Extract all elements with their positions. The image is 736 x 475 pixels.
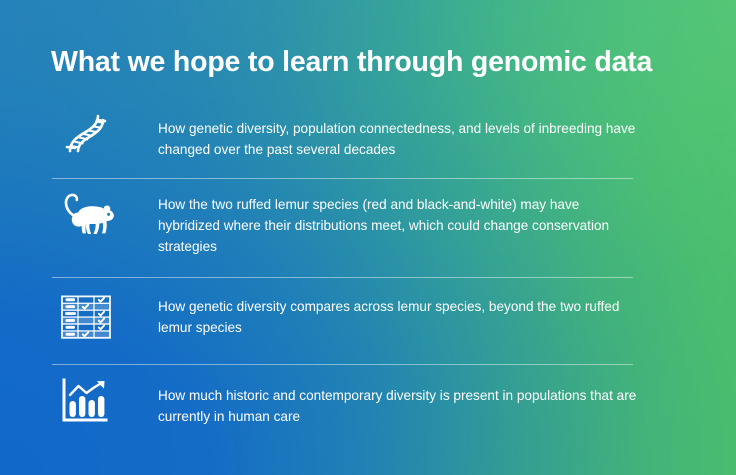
dna-helix-icon: [57, 106, 113, 162]
list-item-text: How the two ruffed lemur species (red an…: [158, 189, 645, 257]
checklist-table-icon: [57, 288, 115, 344]
list-item: How genetic diversity compares across le…: [51, 278, 645, 364]
lemur-icon: [57, 189, 119, 247]
list-item: How genetic diversity, population connec…: [51, 98, 645, 178]
list-item: How much historic and contemporary diver…: [51, 365, 645, 441]
list-item: How the two ruffed lemur species (red an…: [51, 179, 645, 277]
slide-canvas: What we hope to learn through genomic da…: [0, 0, 736, 475]
list-item-text: How genetic diversity compares across le…: [158, 288, 645, 338]
list-item-text: How much historic and contemporary diver…: [158, 375, 645, 427]
bar-chart-growth-icon: [57, 375, 113, 429]
icon-cell: [51, 106, 158, 162]
learning-goals-list: How genetic diversity, population connec…: [51, 98, 645, 441]
icon-cell: [51, 288, 158, 344]
list-item-text: How genetic diversity, population connec…: [158, 106, 645, 160]
icon-cell: [51, 189, 158, 247]
icon-cell: [51, 375, 158, 429]
page-title: What we hope to learn through genomic da…: [51, 46, 652, 80]
